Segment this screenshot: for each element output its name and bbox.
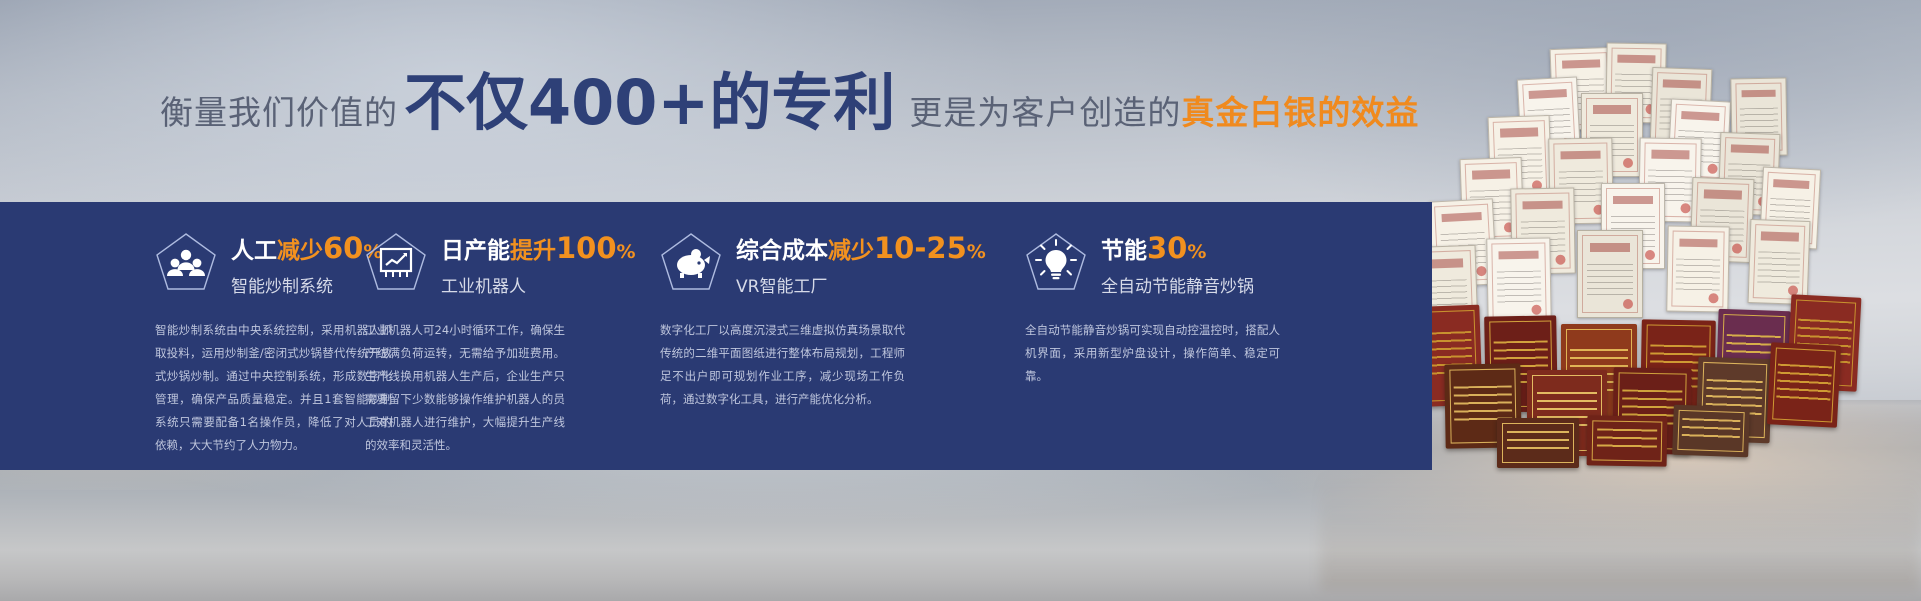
headline-highlight: 不仅400+的专利 (404, 72, 895, 134)
headline-prefix: 衡量我们价值的 (160, 86, 398, 134)
headline-accent: 真金白银的效益 (1181, 86, 1419, 134)
feature-body-4: 全自动节能静音炒锅可实现自动控温控时，搭配人机界面，采用新型炉盘设计，操作简单、… (1025, 319, 1280, 388)
certificate-item (1486, 237, 1551, 324)
feature-body-2: 工业机器人可24小时循环工作，确保生产线满负荷运转，无需给予加班费用。生产线换用… (365, 319, 565, 457)
award-plaque (1672, 405, 1750, 458)
feature-item-4: 节能30% 全自动节能静音炒锅 全自动节能静音炒锅可实现自动控温控时，搭配人机界… (955, 202, 1355, 470)
features-panel: 人工减少60% 智能炒制系统 智能炒制系统由中央系统控制，采用机器人抓取投料，运… (0, 202, 1432, 470)
award-plaque (1497, 418, 1579, 468)
certificate-wall (1401, 38, 1921, 468)
headline-middle: 更是为客户创造的 (909, 86, 1181, 134)
award-plaque (1587, 415, 1668, 466)
feature-title-3: 综合成本减少10-25% (736, 232, 986, 265)
feature-body-3: 数字化工厂以高度沉浸式三维虚拟仿真场景取代传统的二维平面图纸进行整体布局规划，工… (660, 319, 905, 411)
feature-item-3: 综合成本减少10-25% VR智能工厂 数字化工厂以高度沉浸式三维虚拟仿真场景取… (600, 202, 955, 470)
award-plaque (1767, 342, 1841, 428)
certificate-item (1748, 219, 1811, 305)
feature-subtitle-3: VR智能工厂 (736, 272, 986, 297)
certificate-reflection (1320, 470, 1920, 590)
chart-board-icon (365, 232, 427, 292)
lightbulb-icon (1025, 232, 1087, 292)
certificate-item (1666, 225, 1729, 312)
feature-title-4: 节能30% (1101, 232, 1254, 265)
feature-subtitle-4: 全自动节能静音炒锅 (1101, 272, 1254, 297)
people-group-icon (155, 232, 217, 292)
feature-item-2: 日产能提升100% 工业机器人 工业机器人可24小时循环工作，确保生产线满负荷运… (330, 202, 600, 470)
feature-item-1: 人工减少60% 智能炒制系统 智能炒制系统由中央系统控制，采用机器人抓取投料，运… (0, 202, 330, 470)
banner-stage: 衡量我们价值的 不仅400+的专利 更是为客户创造的 真金白银的效益 (0, 0, 1921, 601)
page-title: 衡量我们价值的 不仅400+的专利 更是为客户创造的 真金白银的效益 (160, 72, 1419, 134)
piggy-bank-icon (660, 232, 722, 292)
certificate-item (1577, 230, 1643, 318)
